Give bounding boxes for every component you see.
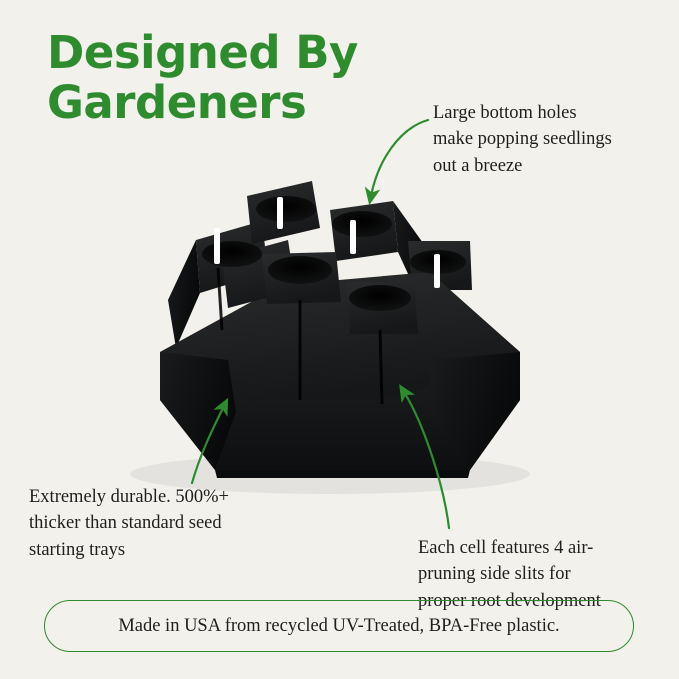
arrow-bottom-left bbox=[192, 406, 224, 483]
callout-top-line-2: make popping seedlings bbox=[433, 126, 673, 152]
headline-line-1: Designed By bbox=[47, 26, 358, 79]
callout-bottomleft-line-1: Extremely durable. 500%+ bbox=[29, 484, 301, 510]
headline: Designed By Gardeners bbox=[47, 28, 447, 129]
side-slit-highlights bbox=[214, 197, 440, 288]
callout-top-line-1: Large bottom holes bbox=[433, 100, 673, 126]
callout-top-line-3: out a breeze bbox=[433, 153, 673, 179]
callout-large-bottom-holes: Large bottom holes make popping seedling… bbox=[433, 100, 673, 179]
callout-bottomright-line-1: Each cell features 4 air- bbox=[418, 535, 670, 561]
arrow-top bbox=[371, 120, 428, 196]
promo-image: Designed By Gardeners Large bottom holes… bbox=[0, 0, 679, 679]
headline-line-2: Gardeners bbox=[47, 78, 447, 128]
seed-tray-body bbox=[160, 181, 520, 478]
callout-bottomleft-line-3: starting trays bbox=[29, 537, 301, 563]
footer-text: Made in USA from recycled UV-Treated, BP… bbox=[118, 616, 559, 637]
arrow-bottom-right bbox=[404, 392, 449, 528]
callout-bottomleft-line-2: thicker than standard seed bbox=[29, 510, 301, 536]
callout-durability: Extremely durable. 500%+ thicker than st… bbox=[29, 484, 301, 563]
callout-bottomright-line-2: pruning side slits for bbox=[418, 561, 670, 587]
footer-badge: Made in USA from recycled UV-Treated, BP… bbox=[44, 600, 634, 652]
